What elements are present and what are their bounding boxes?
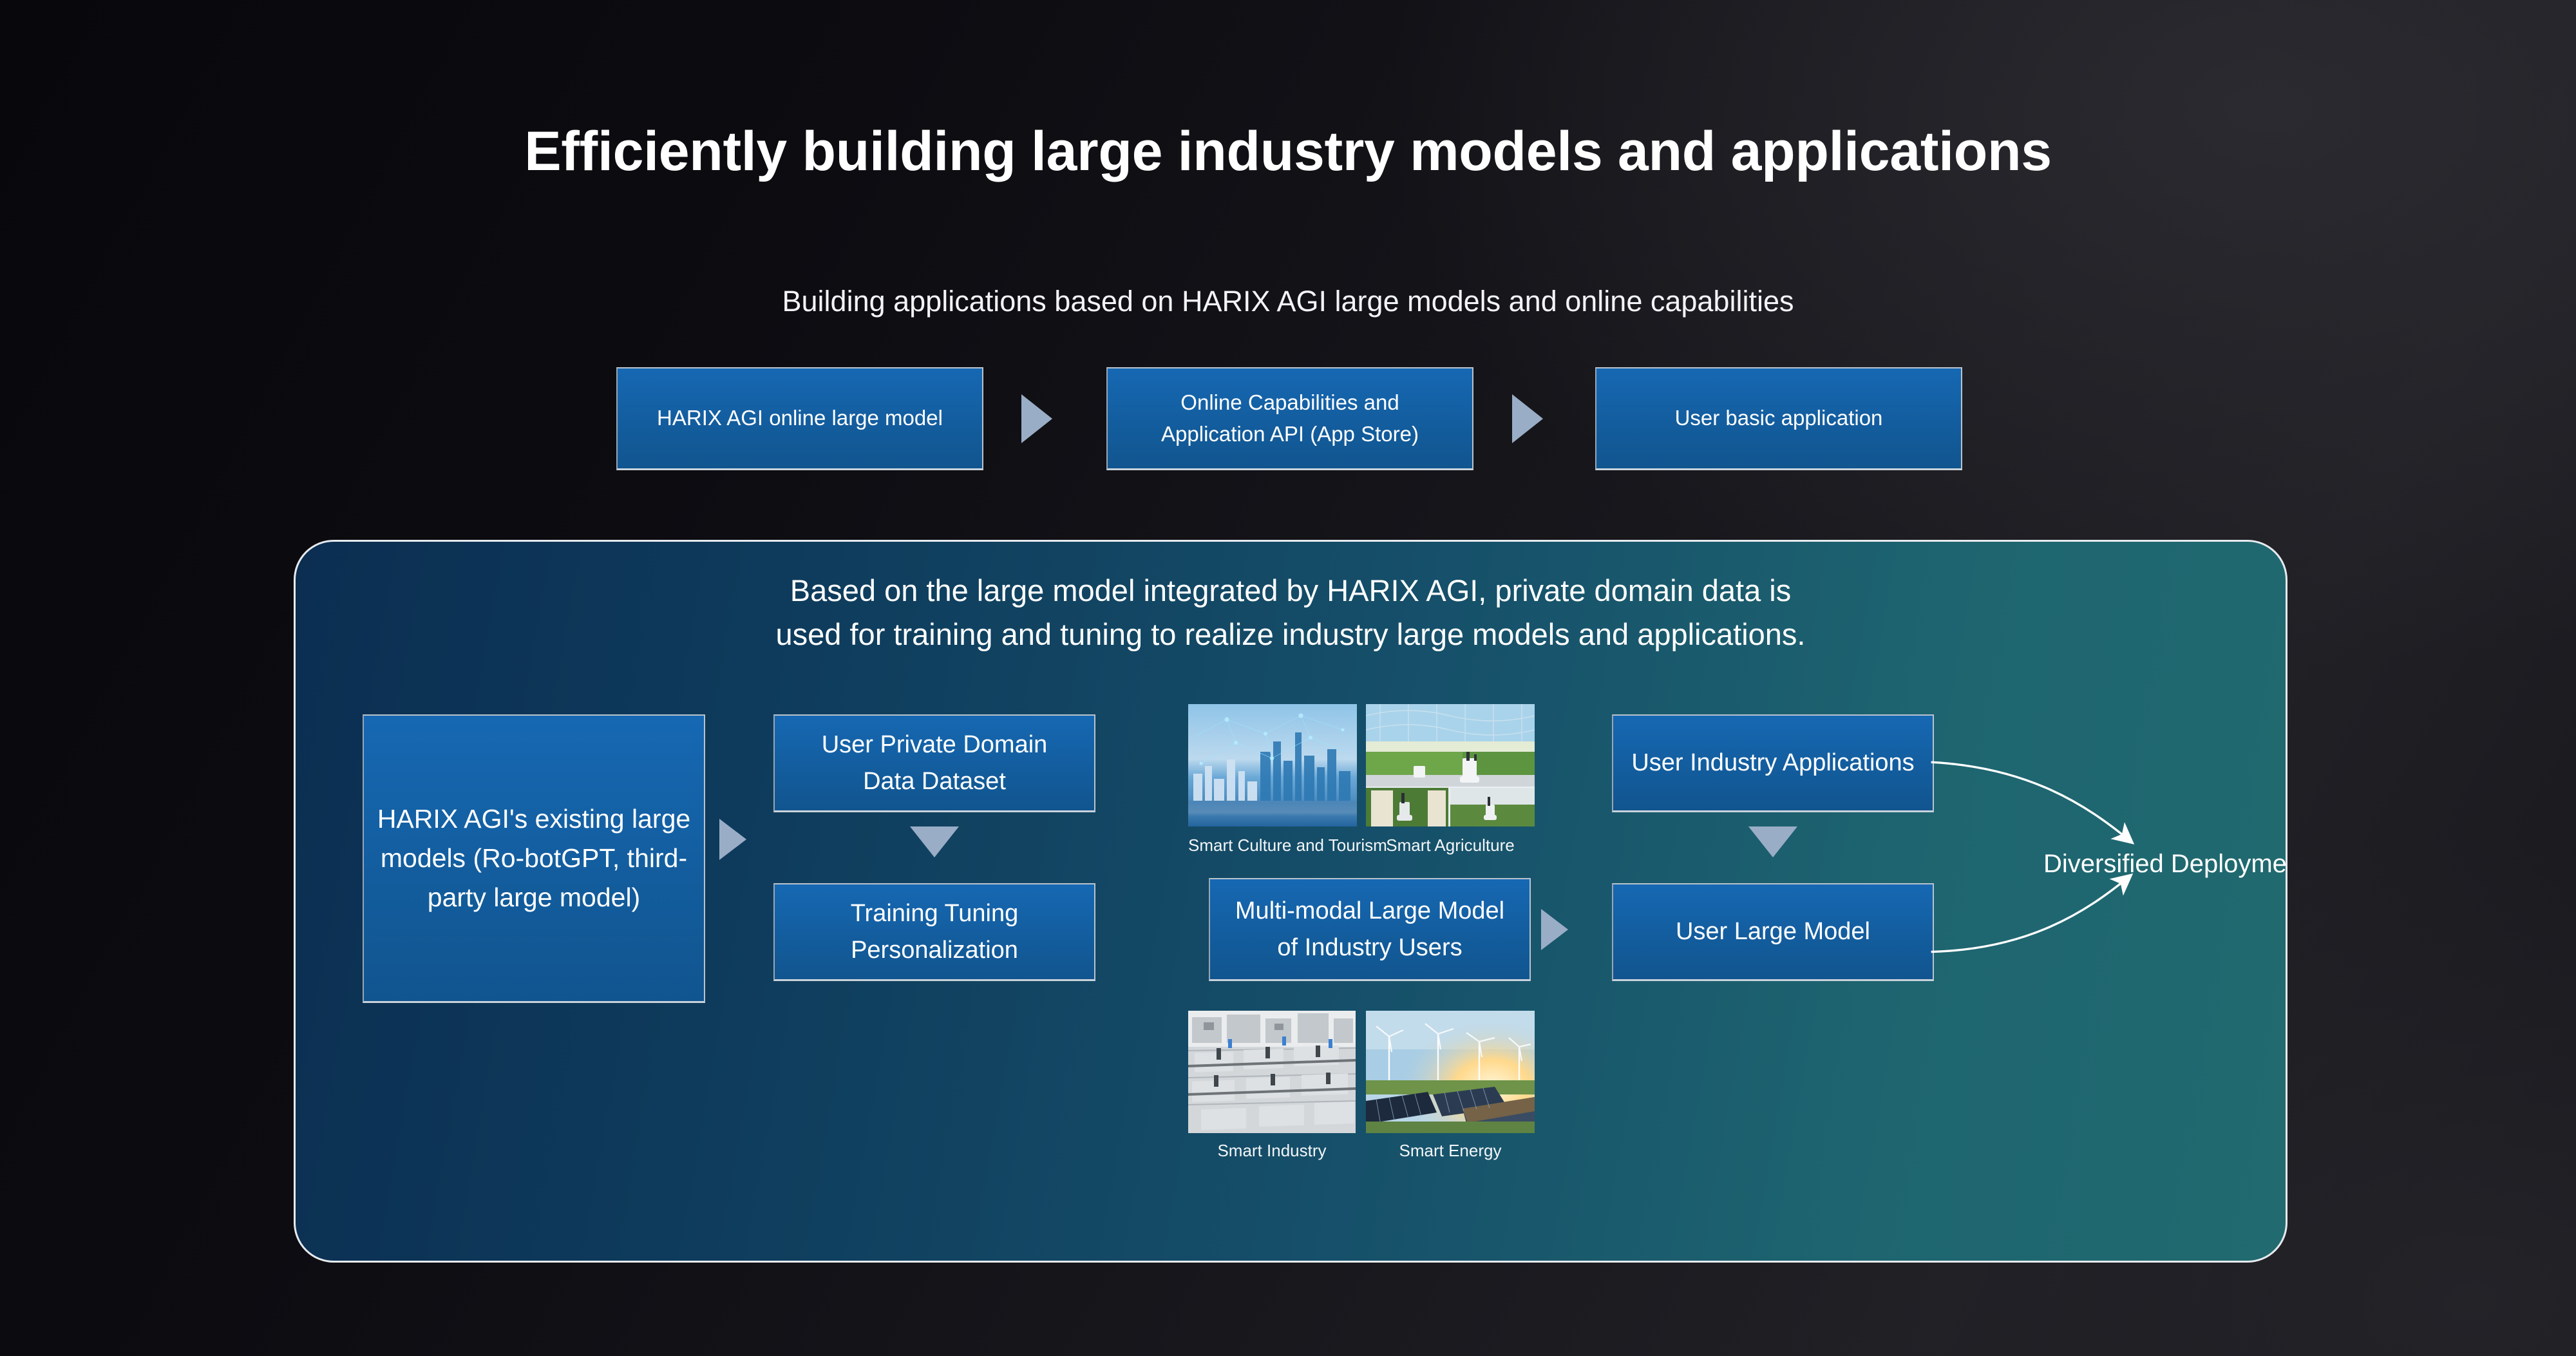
diversified-deployment-label: Diversified Deployment [2043,850,2287,879]
thumbnail-smart-culture-tourism[interactable] [1188,704,1357,826]
thumbnail-smart-energy[interactable] [1366,1011,1535,1133]
thumbnail-smart-agriculture[interactable] [1366,704,1535,826]
smart-city-skyline-network-image [1188,704,1357,826]
training-tuning-label: Training Tuning Personalization [851,895,1019,968]
training-tuning-box[interactable]: Training Tuning Personalization [773,883,1095,981]
panel-heading: Based on the large model integrated by H… [296,569,2286,656]
multimodal-large-model-label: Multi-modal Large Model of Industry User… [1235,893,1504,965]
user-industry-applications-label: User Industry Applications [1631,745,1914,781]
greenhouse-robots-image [1366,704,1535,826]
top-flow-box-2-label: Online Capabilities and Application API … [1161,387,1419,450]
thumbnail-caption-smart-industry: Smart Industry [1188,1141,1356,1161]
triangle-down-icon [1748,826,1797,857]
wind-turbines-solar-panels-image [1366,1011,1535,1133]
user-large-model-label: User Large Model [1676,913,1870,950]
left-existing-models-box[interactable]: HARIX AGI's existing large models (Ro-bo… [363,714,705,1003]
thumbnail-smart-industry[interactable] [1188,1011,1356,1133]
user-private-domain-label: User Private Domain Data Dataset [822,727,1048,799]
top-flow-box-3[interactable]: User basic application [1595,367,1962,470]
thumbnail-caption-smart-agriculture: Smart Agriculture [1366,836,1535,855]
triangle-right-icon [1541,909,1568,950]
left-existing-models-label: HARIX AGI's existing large models (Ro-bo… [373,799,695,917]
top-flow-box-1[interactable]: HARIX AGI online large model [616,367,983,470]
multimodal-large-model-box[interactable]: Multi-modal Large Model of Industry User… [1209,878,1531,981]
factory-warehouse-automation-image [1188,1011,1356,1133]
triangle-down-icon [910,826,959,857]
top-flow-box-1-label: HARIX AGI online large model [657,403,943,434]
top-flow-box-2[interactable]: Online Capabilities and Application API … [1106,367,1473,470]
triangle-right-icon [719,819,746,860]
main-panel: Based on the large model integrated by H… [294,540,2287,1263]
triangle-right-icon [1021,394,1052,443]
top-flow-box-3-label: User basic application [1675,403,1883,434]
thumbnail-caption-smart-energy: Smart Energy [1366,1141,1535,1161]
user-industry-applications-box[interactable]: User Industry Applications [1612,714,1934,812]
user-private-domain-box[interactable]: User Private Domain Data Dataset [773,714,1095,812]
thumbnail-caption-smart-culture-tourism: Smart Culture and Tourism [1188,836,1357,855]
triangle-right-icon [1512,394,1543,443]
user-large-model-box[interactable]: User Large Model [1612,883,1934,981]
